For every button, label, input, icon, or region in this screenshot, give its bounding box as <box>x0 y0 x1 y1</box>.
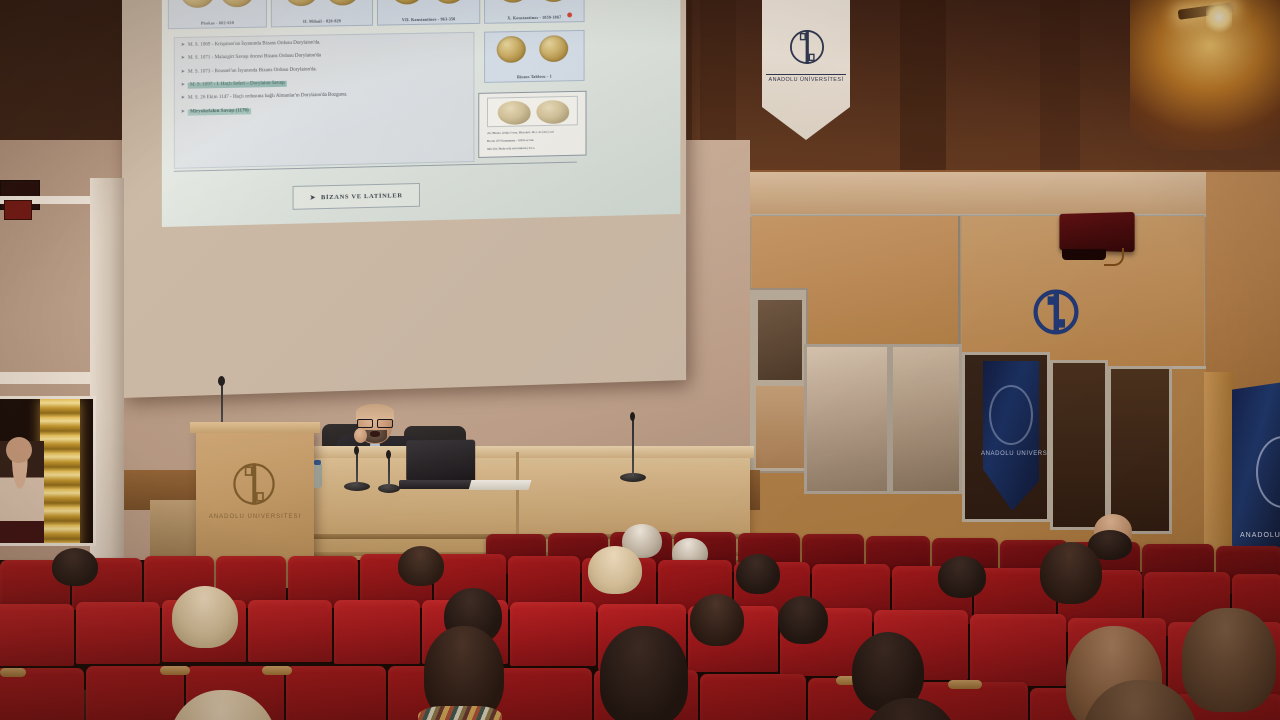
bullet-text: M. S. 1069 - Krispinos'un İsyanında Biza… <box>188 40 321 48</box>
coin-caption: Phokas - 602-610 <box>169 20 266 27</box>
bullet-text: M. S. 26 Ekim 1147 - Haçlı ordusuna bağl… <box>188 93 347 102</box>
coin-cell: Phokas - 602-610 <box>168 0 267 29</box>
coin-cell: Bizans Tablosu - 1 <box>484 30 584 83</box>
bullet-marker-icon: ➤ <box>181 109 185 115</box>
seat[interactable] <box>286 666 386 720</box>
wall-light-glow <box>1130 0 1280 150</box>
coin-caption: Bizans Tablosu - 1 <box>485 73 584 80</box>
list-item-highlighted: ➤ M. S. 1097 - I. Haçlı Seferi – Dorylai… <box>181 77 468 88</box>
list-item: ➤ M. S. 1069 - Krispinos'un İsyanında Bi… <box>181 38 468 49</box>
bullet-marker-icon: ➤ <box>310 193 316 201</box>
conference-hall-photo: ANADOLU ÜNİVERSİTESİ ANADOLU ÜNİVERSİTES… <box>0 0 1280 720</box>
seat[interactable] <box>0 604 74 666</box>
audience-head <box>736 554 780 594</box>
audience-head <box>938 556 986 598</box>
speaker-hand <box>354 428 367 443</box>
flag-label: ANADOLU ÜNİVERSİTESİ <box>981 451 1041 457</box>
coin-cell: II. Mihail - 820-829 <box>271 0 373 27</box>
speaker-scalp <box>356 404 394 420</box>
desk-microphone-head <box>354 446 359 455</box>
booth-sill <box>0 372 96 384</box>
bottle-cap <box>314 460 321 465</box>
anadolu-university-circle-logo-icon <box>989 385 1033 445</box>
audience-head <box>778 596 828 644</box>
wall-mount-bracket <box>1062 249 1106 260</box>
audience-head <box>600 626 688 720</box>
slide-footer-tab: ➤ BİZANS VE LATİNLER <box>293 183 420 210</box>
bullet-marker-icon: ➤ <box>181 70 185 76</box>
water-bottle <box>313 464 322 488</box>
wall-mounted-display <box>1059 212 1134 252</box>
audience-head <box>398 546 444 586</box>
desk-microphone-head <box>386 450 391 459</box>
door-panel <box>756 386 804 468</box>
booth-equipment <box>4 200 32 220</box>
speaker-mouth <box>370 431 380 437</box>
anadolu-university-circle-logo-icon <box>784 24 830 75</box>
bullet-marker-icon: ➤ <box>181 56 185 62</box>
slide-note-box: cilt, Bizans, Attika 3 sera, Miryokef. 4… <box>478 91 586 158</box>
coin-cell: VII. Konstantinos - 963-350 <box>377 0 480 26</box>
coin-caption: II. Mihail - 820-829 <box>272 18 372 25</box>
armrest <box>948 680 982 689</box>
list-item: ➤ M. S. 1073 - Roussel'un İsyanında Biza… <box>181 64 468 75</box>
bullet-text: Miryokefalon Savaşı (1176) <box>188 108 251 115</box>
seat[interactable] <box>970 614 1066 686</box>
desk-microphone-stem <box>388 456 390 486</box>
slide-bullet-list: ➤ M. S. 1069 - Krispinos'un İsyanında Bi… <box>174 32 475 169</box>
bullet-marker-icon: ➤ <box>181 83 185 89</box>
floor-microphone-head <box>218 376 225 386</box>
armrest <box>262 666 292 675</box>
booth-window <box>804 344 890 494</box>
projection-screen: Phokas - 602-610 II. Mihail - 820-829 VI… <box>122 0 686 398</box>
wall-light-hotspot <box>1206 0 1232 34</box>
audience-head <box>690 594 744 646</box>
booth-window: ANADOLU ÜNİVERSİTESİ <box>962 352 1050 522</box>
slide-footer-label: BİZANS VE LATİNLER <box>321 192 403 201</box>
list-item: ➤ M. S. 26 Ekim 1147 - Haçlı ordusuna ba… <box>181 91 468 103</box>
booth-window <box>1050 360 1108 530</box>
seat[interactable] <box>76 602 160 664</box>
audience-head <box>588 546 642 594</box>
projected-slide: Phokas - 602-610 II. Mihail - 820-829 VI… <box>162 0 680 227</box>
slide-red-dot <box>567 12 572 17</box>
bullet-text: M. S. 1073 - Roussel'un İsyanında Bizans… <box>188 67 317 75</box>
desk-microphone-stem <box>632 418 634 476</box>
audience-head <box>1182 608 1276 712</box>
audience-clothing <box>418 706 502 720</box>
bullet-text: M. S. 1097 - I. Haçlı Seferi – Dorylaion… <box>188 81 287 89</box>
desk-microphone-stem <box>356 452 358 484</box>
booth-operator-head <box>6 437 32 463</box>
bullet-text: M. S. 1071 - Malazgirt Savaşı öncesi Biz… <box>188 54 321 62</box>
list-item-highlighted: ➤ Miryokefalon Savaşı (1176) <box>181 104 468 116</box>
seat[interactable] <box>334 600 420 664</box>
list-item: ➤ M. S. 1071 - Malazgirt Savaşı öncesi B… <box>181 51 468 62</box>
armrest <box>160 666 190 675</box>
desk-microphone-head <box>630 412 635 421</box>
laptop[interactable] <box>406 440 475 483</box>
note-line: cilt, Bizans, Attika 3 sera, Miryokef. 4… <box>487 130 554 135</box>
banner-label: ANADOLU ÜNİVERSİTESİ <box>762 77 850 83</box>
audience-head <box>52 548 98 586</box>
coin-caption: VII. Konstantinos - 963-350 <box>378 16 479 23</box>
divider <box>766 74 846 75</box>
anadolu-university-circle-logo-icon <box>226 456 282 512</box>
lectern-top <box>190 422 320 433</box>
audience-head <box>1040 542 1102 604</box>
eyeglasses-icon <box>357 419 393 426</box>
booth-window <box>890 344 962 494</box>
booth-window <box>1108 366 1172 534</box>
nugget-frame <box>487 96 578 127</box>
audience-seating <box>0 520 1280 720</box>
right-structure-header <box>736 172 1206 216</box>
service-door[interactable] <box>748 288 808 473</box>
note-line: Bu alu 1074 konumunu - 1065b-ol bak <box>487 138 534 143</box>
seat[interactable] <box>700 674 806 720</box>
anadolu-university-circle-logo-icon <box>1256 436 1280 508</box>
panel-table-top <box>276 446 754 458</box>
seat[interactable] <box>490 668 592 720</box>
anadolu-university-circle-logo-icon <box>1026 282 1086 342</box>
seat[interactable] <box>510 602 596 666</box>
audience-head <box>172 586 238 648</box>
bullet-marker-icon: ➤ <box>181 96 185 102</box>
bullet-marker-icon: ➤ <box>181 43 185 49</box>
door-window <box>758 300 802 380</box>
seat[interactable] <box>248 600 332 662</box>
papers <box>469 480 532 490</box>
armrest <box>0 668 26 677</box>
note-line: mile (dd. Budu-sch) seni mukton.) 61-a. <box>487 146 535 151</box>
